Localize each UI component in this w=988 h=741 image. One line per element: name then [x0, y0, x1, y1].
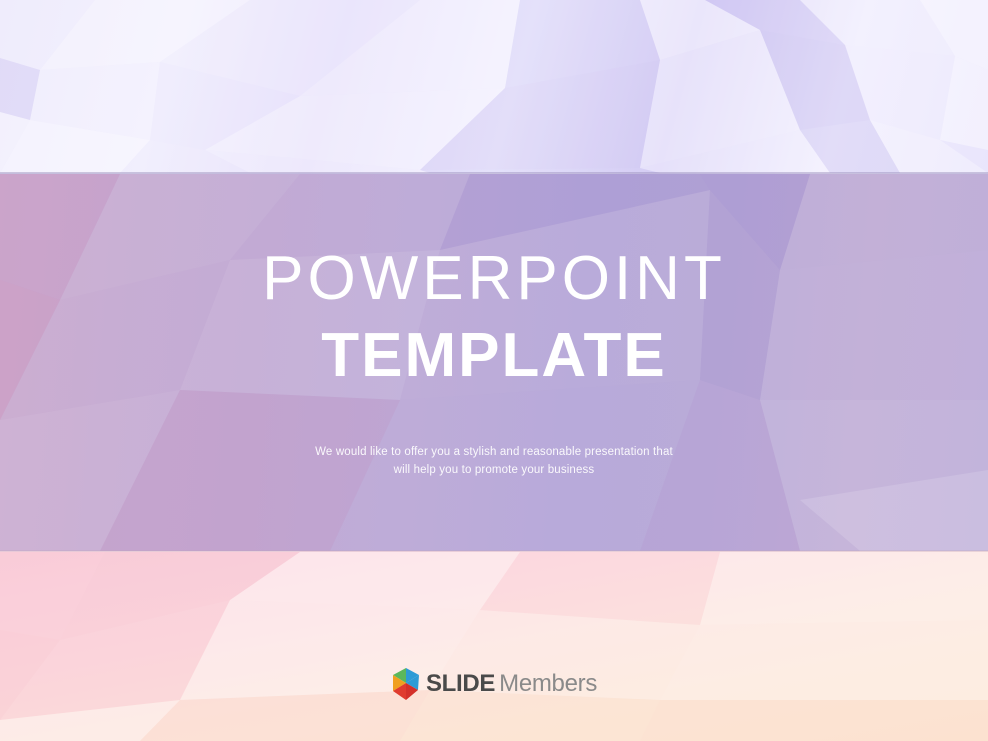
bottom-band-divider — [0, 550, 988, 552]
footer-logo: SLIDEMembers — [0, 666, 988, 702]
slide-subtitle-line-2: will help you to promote your business — [244, 462, 744, 480]
brand-name-light: Members — [499, 670, 597, 697]
top-band-divider — [0, 172, 988, 174]
slide-subtitle-line-1: We would like to offer you a stylish and… — [244, 444, 744, 462]
slide-title-primary: POWERPOINT — [0, 246, 988, 313]
presentation-slide: POWERPOINT TEMPLATE We would like to off… — [0, 0, 988, 741]
brand-name-bold: SLIDE — [426, 670, 495, 697]
slide-title-block: POWERPOINT TEMPLATE — [0, 246, 988, 399]
brand-name: SLIDEMembers — [426, 672, 597, 696]
slide-title-secondary: TEMPLATE — [0, 313, 988, 399]
slidemembers-pinwheel-icon — [391, 666, 421, 702]
slide-subtitle: We would like to offer you a stylish and… — [244, 444, 744, 480]
bottom-pink-band — [0, 551, 988, 741]
top-lavender-band — [0, 0, 988, 174]
